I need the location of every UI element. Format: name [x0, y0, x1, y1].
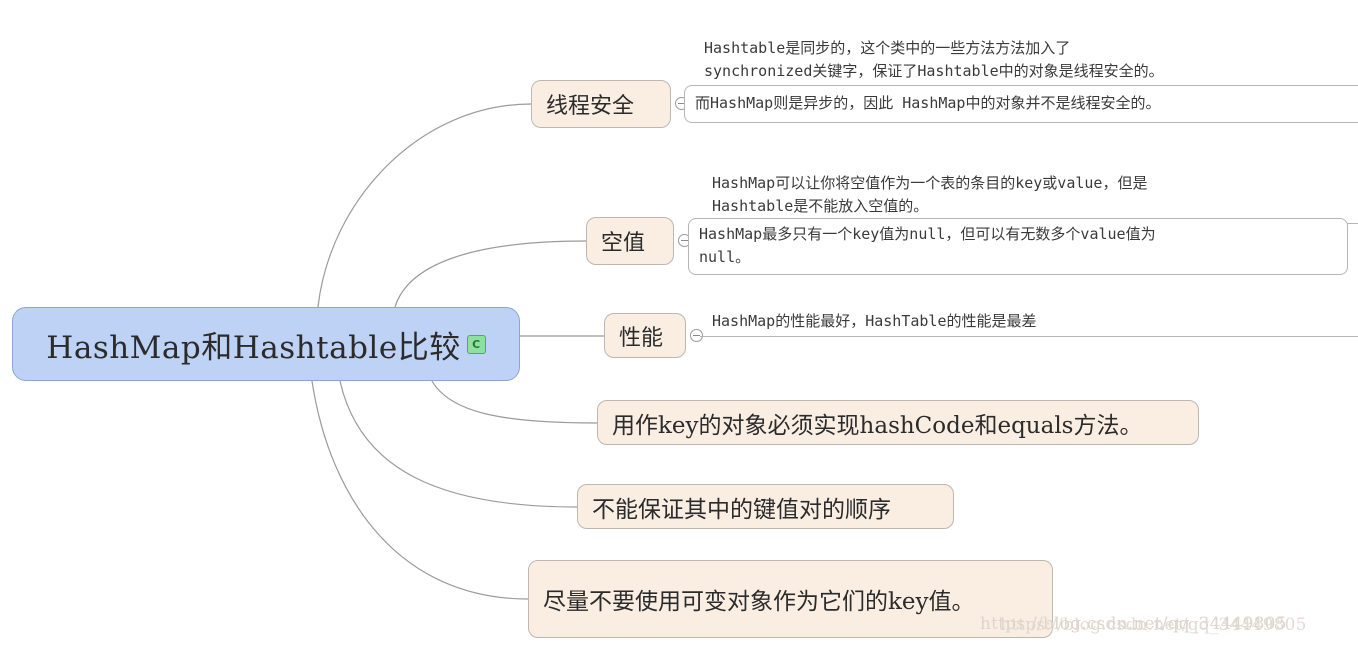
- topic-thread-safety[interactable]: 线程安全: [531, 80, 671, 128]
- note-null-value-2: HashMap最多只有一个key值为null，但可以有无数多个value值为 n…: [688, 218, 1348, 275]
- topic-hashcode-equals-label: 用作key的对象必须实现hashCode和equals方法。: [612, 406, 1142, 440]
- note-null-value-1: HashMap可以让你将空值作为一个表的条目的key或value，但是 Hash…: [700, 168, 1358, 224]
- edge-to-key-order: [340, 381, 577, 507]
- root-node[interactable]: HashMap和Hashtable比较 C: [12, 307, 520, 381]
- note-performance-1: HashMap的性能最好，HashTable的性能是最差: [700, 306, 1358, 337]
- note-thread-safety-1: Hashtable是同步的，这个类中的一些方法方法加入了 synchronize…: [692, 33, 1358, 88]
- c-marker-icon: C: [467, 335, 486, 354]
- topic-performance-label: 性能: [619, 320, 663, 352]
- note-thread-safety-2: 而HashMap则是异步的，因此 HashMap中的对象并不是线程安全的。: [684, 85, 1358, 123]
- topic-thread-safety-label: 线程安全: [546, 88, 634, 120]
- edge-to-hashcode: [432, 381, 597, 423]
- mindmap-canvas: HashMap和Hashtable比较 C 线程安全 Hashtable是同步的…: [0, 0, 1358, 650]
- topic-hashcode-equals[interactable]: 用作key的对象必须实现hashCode和equals方法。: [597, 400, 1199, 445]
- topic-null-value-label: 空值: [601, 225, 645, 257]
- topic-key-order-label: 不能保证其中的键值对的顺序: [592, 490, 891, 524]
- edge-to-thread-safety: [318, 104, 531, 307]
- topic-null-value[interactable]: 空值: [586, 217, 674, 265]
- topic-performance[interactable]: 性能: [604, 313, 686, 358]
- edge-to-mutable-key: [312, 381, 528, 599]
- watermark-text-b: https://blog.csdn.net/qq_34449805: [1000, 615, 1307, 635]
- topic-mutable-key[interactable]: 尽量不要使用可变对象作为它们的key值。: [528, 560, 1053, 638]
- edge-to-null-value: [395, 241, 586, 307]
- root-node-label: HashMap和Hashtable比较: [46, 322, 460, 367]
- topic-key-order[interactable]: 不能保证其中的键值对的顺序: [577, 484, 954, 529]
- topic-mutable-key-label: 尽量不要使用可变对象作为它们的key值。: [543, 582, 975, 616]
